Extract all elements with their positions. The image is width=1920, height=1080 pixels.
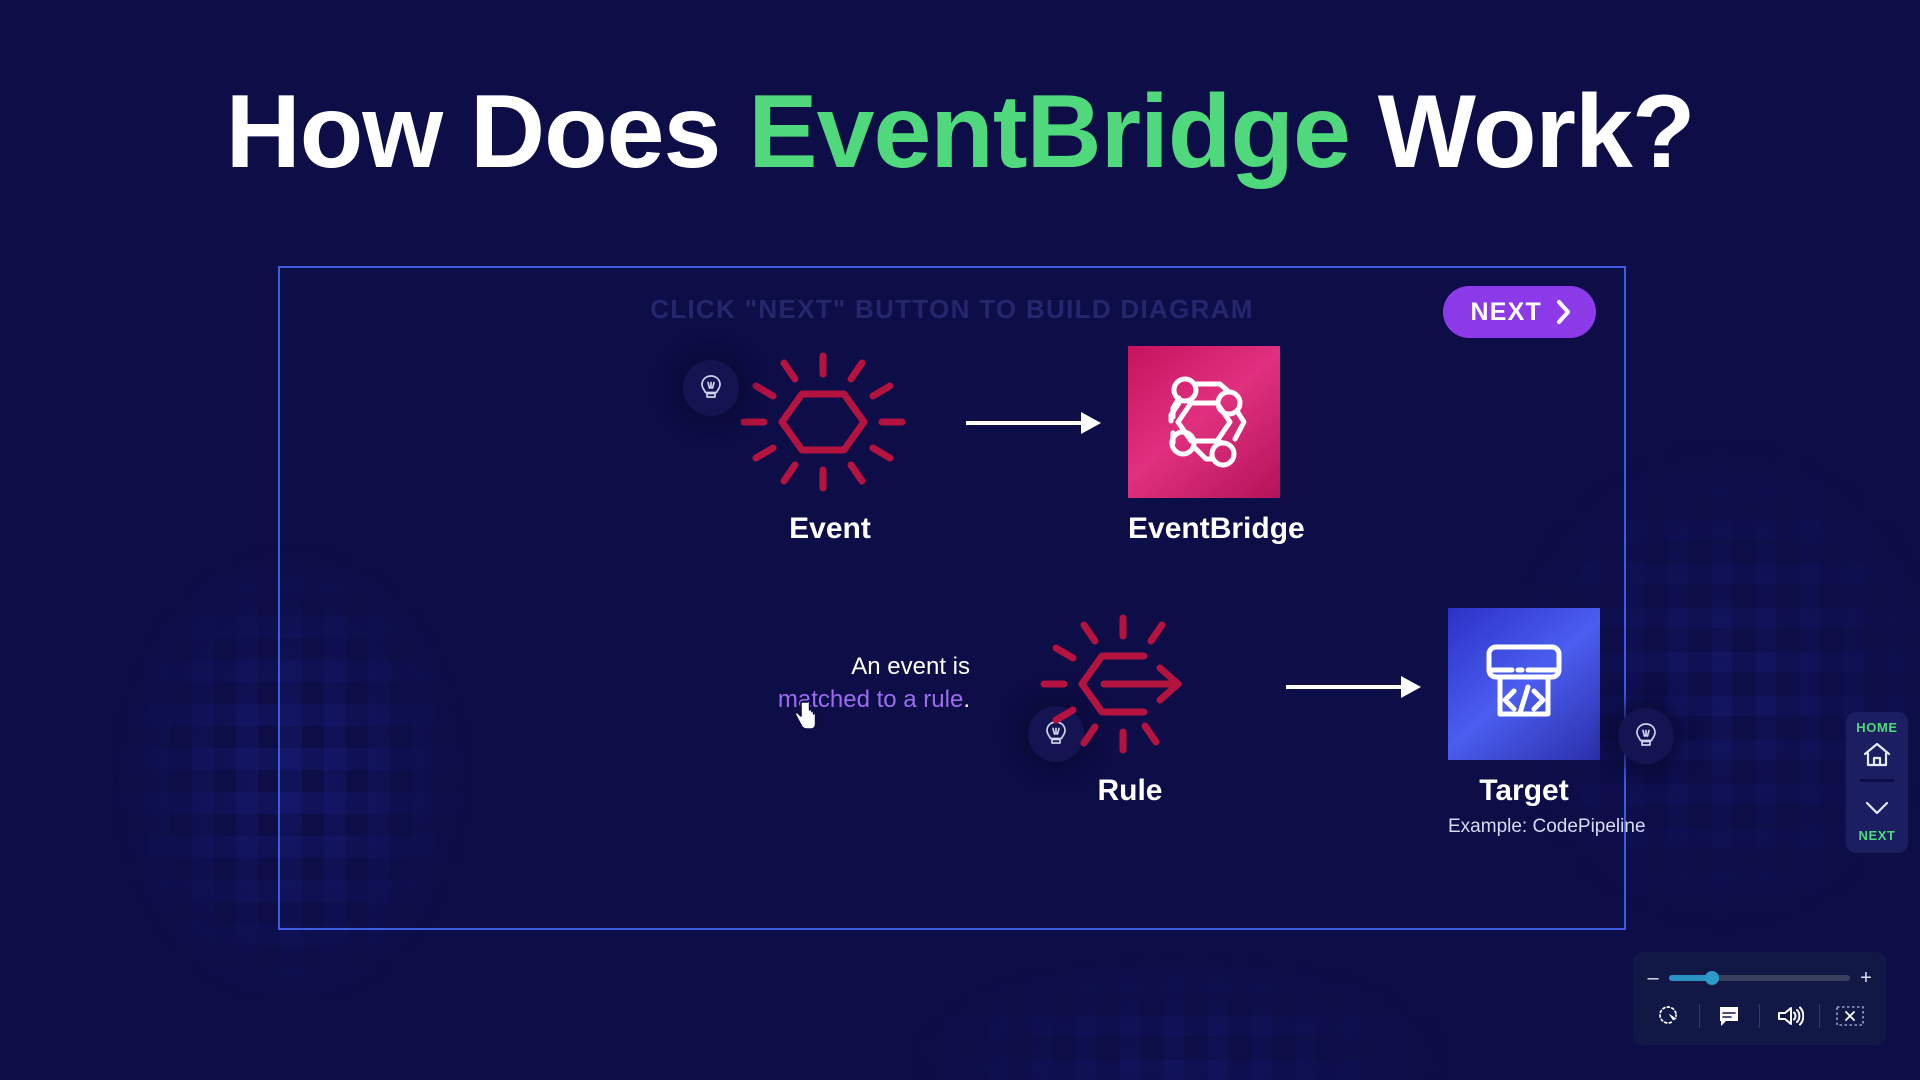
zoom-slider-handle[interactable] <box>1705 971 1719 985</box>
node-target-label: Target <box>1448 774 1600 808</box>
annotation-period: . <box>963 686 970 713</box>
diagram-panel: CLICK "NEXT" BUTTON TO BUILD DIAGRAM NEX… <box>278 266 1626 930</box>
node-rule: Rule <box>1040 608 1220 808</box>
eventbridge-tile-icon <box>1128 346 1280 498</box>
annotation-matched-rule: An event is matched to a rule. <box>630 650 970 716</box>
page-title-part2: Work? <box>1350 74 1695 190</box>
page-title: How Does EventBridge Work? <box>0 78 1920 187</box>
next-button[interactable]: NEXT <box>1443 286 1596 338</box>
zoom-control: – + <box>1647 963 1872 993</box>
hint-bulb-event[interactable] <box>683 360 739 416</box>
next-button-label: NEXT <box>1471 298 1542 327</box>
bottom-toolbar: – + <box>1633 952 1886 1045</box>
node-rule-label: Rule <box>1040 774 1220 808</box>
rule-burst-icon <box>1040 608 1220 760</box>
select-tool-button[interactable] <box>1649 1000 1689 1032</box>
nav-home-label: HOME <box>1856 720 1897 735</box>
tool-separator-2 <box>1759 1004 1760 1028</box>
page-title-accent: EventBridge <box>748 74 1350 190</box>
tool-separator-3 <box>1819 1004 1820 1028</box>
zoom-in-button[interactable]: + <box>1860 968 1872 988</box>
node-eventbridge-label: EventBridge <box>1128 512 1280 546</box>
event-burst-icon <box>740 346 920 498</box>
home-icon <box>1862 741 1892 769</box>
nav-divider <box>1860 779 1894 782</box>
close-tool-button[interactable] <box>1830 1000 1870 1032</box>
lightbulb-icon <box>698 373 724 403</box>
close-box-icon <box>1835 1004 1865 1028</box>
nav-home-button[interactable] <box>1854 735 1900 775</box>
nav-next-button[interactable] <box>1854 788 1900 828</box>
node-event-label: Event <box>740 512 920 546</box>
sound-tool-button[interactable] <box>1770 1000 1810 1032</box>
node-eventbridge: EventBridge <box>1128 346 1280 546</box>
hint-bulb-target[interactable] <box>1618 708 1674 764</box>
node-target-sub: Example: CodePipeline <box>1448 816 1600 838</box>
tool-row <box>1647 997 1872 1035</box>
comment-icon <box>1717 1004 1741 1028</box>
node-target: Target Example: CodePipeline <box>1448 608 1600 838</box>
annotation-line1: An event is <box>630 650 970 683</box>
page-title-part1: How Does <box>226 74 749 190</box>
nav-next-label: NEXT <box>1858 828 1895 843</box>
zoom-slider[interactable] <box>1669 975 1850 981</box>
nav-rail: HOME NEXT <box>1846 712 1908 853</box>
chevron-right-icon <box>1556 299 1572 325</box>
page-root: How Does EventBridge Work? CLICK "NEXT" … <box>0 0 1920 1080</box>
select-cursor-icon <box>1657 1004 1681 1028</box>
arrow-rule-to-target <box>1286 680 1421 694</box>
arrow-event-to-eventbridge <box>966 416 1101 430</box>
target-codepipeline-tile-icon <box>1448 608 1600 760</box>
comment-tool-button[interactable] <box>1709 1000 1749 1032</box>
panel-hint-text: CLICK "NEXT" BUTTON TO BUILD DIAGRAM <box>280 294 1624 325</box>
zoom-out-button[interactable]: – <box>1647 968 1659 988</box>
lightbulb-icon <box>1633 721 1659 751</box>
node-event: Event <box>740 346 920 546</box>
annotation-highlight: matched to a rule <box>778 686 963 713</box>
tool-separator-1 <box>1699 1004 1700 1028</box>
chevron-down-icon <box>1862 798 1892 818</box>
sound-on-icon <box>1776 1004 1804 1028</box>
